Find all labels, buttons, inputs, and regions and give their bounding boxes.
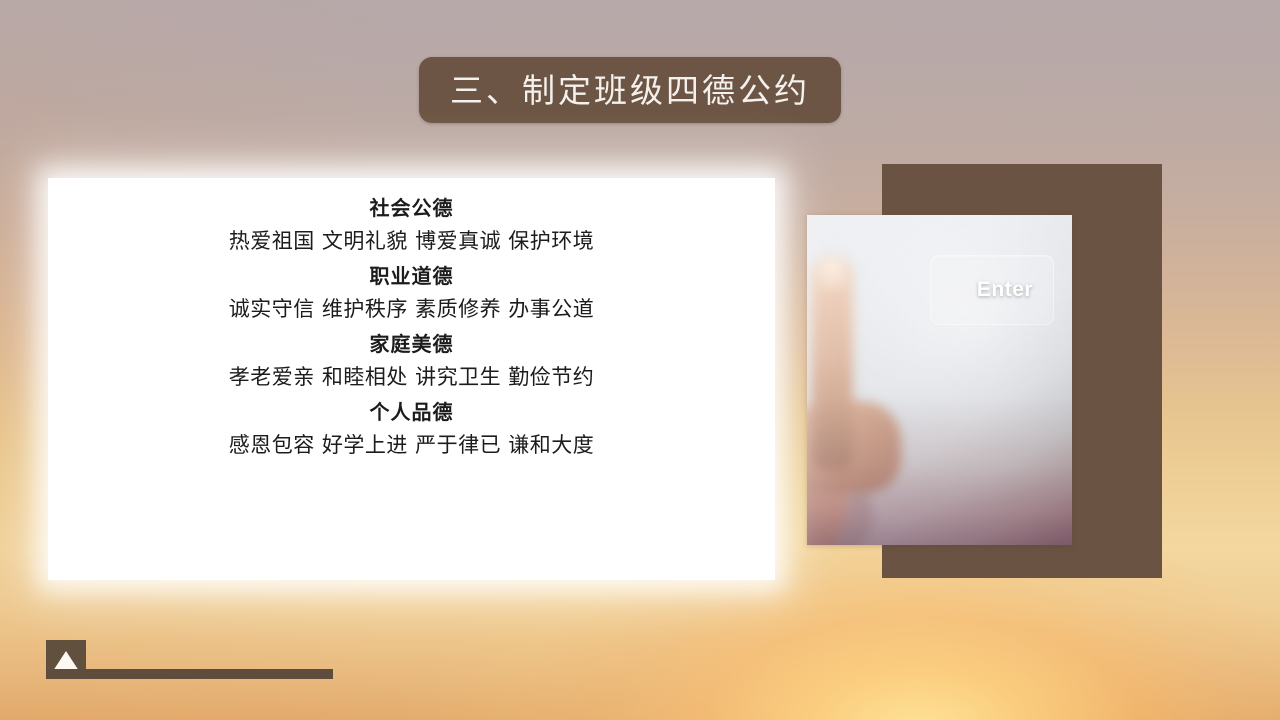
virtue-group-professional: 职业道德 诚实守信 维护秩序 素质修养 办事公道 — [48, 262, 775, 324]
virtue-items: 孝老爱亲 和睦相处 讲究卫生 勤俭节约 — [229, 362, 595, 392]
slide-title-banner: 三、制定班级四德公约 — [419, 57, 841, 123]
page-title: 三、制定班级四德公约 — [450, 74, 810, 107]
virtue-items: 热爱祖国 文明礼貌 博爱真诚 保护环境 — [229, 226, 595, 256]
slide-canvas: 三、制定班级四德公约 Enter 社会公德 热爱祖国 文明礼貌 博爱真诚 保护环… — [0, 0, 1280, 720]
enter-button-label: Enter — [977, 278, 1033, 302]
enter-button[interactable]: Enter — [930, 255, 1054, 325]
virtue-heading: 家庭美德 — [370, 330, 454, 358]
triangle-up-icon — [53, 651, 79, 671]
virtue-items: 感恩包容 好学上进 严于律已 谦和大度 — [229, 430, 595, 460]
nav-underline-bar — [46, 669, 333, 679]
virtue-heading: 职业道德 — [370, 262, 454, 290]
virtue-group-personal: 个人品德 感恩包容 好学上进 严于律已 谦和大度 — [48, 398, 775, 460]
virtues-content-card: 社会公德 热爱祖国 文明礼貌 博爱真诚 保护环境 职业道德 诚实守信 维护秩序 … — [48, 178, 775, 580]
virtue-items: 诚实守信 维护秩序 素质修养 办事公道 — [229, 294, 595, 324]
virtue-group-social: 社会公德 热爱祖国 文明礼貌 博爱真诚 保护环境 — [48, 194, 775, 256]
virtue-group-family: 家庭美德 孝老爱亲 和睦相处 讲究卫生 勤俭节约 — [48, 330, 775, 392]
virtue-heading: 个人品德 — [370, 398, 454, 426]
virtue-heading: 社会公德 — [370, 194, 454, 222]
